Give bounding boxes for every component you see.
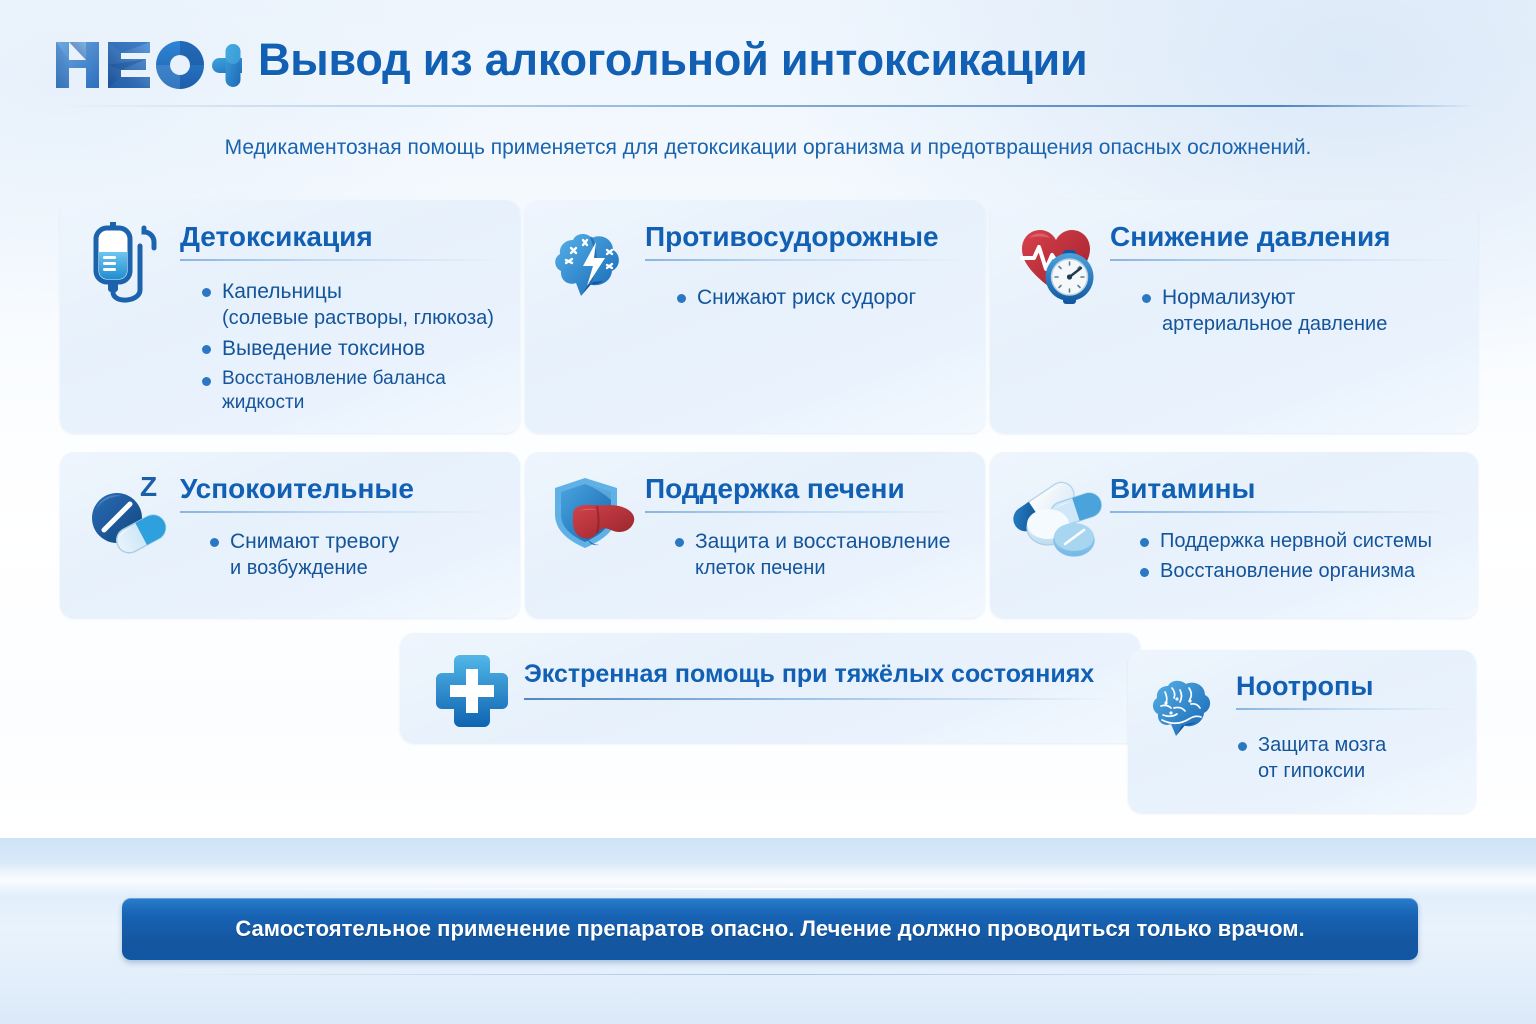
card-header: Детоксикация	[180, 222, 502, 261]
list-item: Защита и восстановление клеток печени	[673, 528, 969, 581]
title-underline	[645, 511, 967, 513]
shield-liver-icon	[547, 470, 643, 566]
title-underline	[645, 259, 967, 261]
title-underline	[180, 259, 502, 261]
list-item: Снижают риск судорог	[675, 284, 969, 311]
band-sheen	[0, 862, 1536, 896]
page-subtitle: Медикаментозная помощь применяется для д…	[0, 136, 1536, 160]
card-liver-support[interactable]: Поддержка печени Защита и восстановление…	[525, 452, 985, 618]
list-item: Выведение токсинов	[200, 335, 504, 362]
card-header: Противосудорожные	[645, 222, 967, 261]
card-title: Детоксикация	[180, 222, 502, 253]
card-anticonvulsant[interactable]: Противосудорожные Снижают риск судорог	[525, 200, 985, 433]
list-item: Нормализуют артериальное давление	[1140, 284, 1462, 337]
bullet-subtext: и возбуждение	[230, 555, 504, 581]
bullet-list: Снимают тревогу и возбуждение	[208, 528, 504, 585]
card-title: Витамины	[1110, 474, 1460, 505]
list-item: Снимают тревогу и возбуждение	[208, 528, 504, 581]
page-title: Вывод из алкогольной интоксикации	[258, 34, 1087, 86]
list-item: Восстановление баланса жидкости	[200, 367, 504, 416]
card-detox[interactable]: Детоксикация Капельницы (солевые раствор…	[60, 200, 520, 433]
pills-capsules-icon	[1012, 470, 1108, 566]
bullet-list: Защита и восстановление клеток печени	[673, 528, 969, 585]
brain-icon	[1146, 668, 1228, 750]
list-item: Защита мозга от гипоксии	[1236, 732, 1460, 784]
bullet-text: Снимают тревогу	[230, 530, 399, 553]
bullet-subtext: от гипоксии	[1258, 758, 1460, 784]
card-title: Ноотропы	[1236, 672, 1460, 702]
title-underline	[524, 698, 1110, 700]
card-title: Противосудорожные	[645, 222, 967, 253]
title-underline	[1110, 511, 1460, 513]
warning-banner: Самостоятельное применение препаратов оп…	[122, 898, 1418, 960]
bullet-list: Нормализуют артериальное давление	[1140, 284, 1462, 341]
infographic-canvas: Вывод из алкогольной интоксикации Медика…	[0, 0, 1536, 1024]
bullet-text: Защита и восстановление	[695, 530, 950, 553]
bullet-subtext: (солевые растворы, глюкоза)	[222, 305, 504, 331]
svg-text:Z: Z	[140, 471, 157, 502]
card-title: Снижение давления	[1110, 222, 1460, 253]
bullet-subtext: артериальное давление	[1162, 311, 1462, 337]
iv-drip-icon	[82, 218, 178, 314]
bullet-text: Нормализуют	[1162, 286, 1295, 309]
card-header: Поддержка печени	[645, 474, 967, 513]
list-item: Капельницы (солевые растворы, глюкоза)	[200, 278, 504, 331]
list-item: Поддержка нервной системы	[1138, 528, 1462, 554]
neo-plus-logo	[52, 36, 242, 92]
card-title: Поддержка печени	[645, 474, 967, 505]
header: Вывод из алкогольной интоксикации	[0, 0, 1536, 112]
bullet-text: Капельницы	[222, 280, 342, 303]
bullet-list: Капельницы (солевые растворы, глюкоза) В…	[200, 278, 504, 420]
medical-cross-icon	[432, 651, 512, 731]
brain-lightning-icon	[547, 218, 643, 314]
card-header: Экстренная помощь при тяжёлых состояниях	[524, 661, 1110, 700]
warning-text: Самостоятельное применение препаратов оп…	[235, 916, 1304, 942]
title-underline	[180, 511, 502, 513]
list-item: Восстановление организма	[1138, 558, 1462, 584]
bullet-list: Снижают риск судорог	[675, 284, 969, 315]
title-underline	[1236, 708, 1460, 710]
card-header: Ноотропы	[1236, 672, 1460, 710]
card-vitamins[interactable]: Витамины Поддержка нервной системы Восст…	[990, 452, 1478, 618]
card-header: Витамины	[1110, 474, 1460, 513]
card-emergency-help[interactable]: Экстренная помощь при тяжёлых состояниях	[400, 633, 1140, 743]
card-blood-pressure[interactable]: Снижение давления Нормализуют артериальн…	[990, 200, 1478, 433]
heart-pressure-gauge-icon	[1012, 218, 1108, 314]
band-highlight-line	[120, 888, 1416, 890]
emergency-title: Экстренная помощь при тяжёлых состояниях	[524, 661, 1110, 689]
card-header: Снижение давления	[1110, 222, 1460, 261]
band-lower-line	[140, 974, 1396, 975]
card-header: Успокоительные	[180, 474, 502, 513]
bullet-text: Защита мозга	[1258, 734, 1386, 756]
header-divider	[58, 105, 1478, 107]
bullet-subtext: клеток печени	[695, 555, 969, 581]
title-underline	[1110, 259, 1460, 261]
card-nootropics[interactable]: Ноотропы Защита мозга от гипоксии	[1128, 650, 1476, 813]
bullet-list: Поддержка нервной системы Восстановление…	[1138, 528, 1462, 588]
bullet-list: Защита мозга от гипоксии	[1236, 732, 1460, 788]
card-title: Успокоительные	[180, 474, 502, 505]
pill-sleep-icon: Z	[82, 470, 178, 566]
card-sedative[interactable]: Z Успокоительные Снимают тревогу и возбу…	[60, 452, 520, 618]
